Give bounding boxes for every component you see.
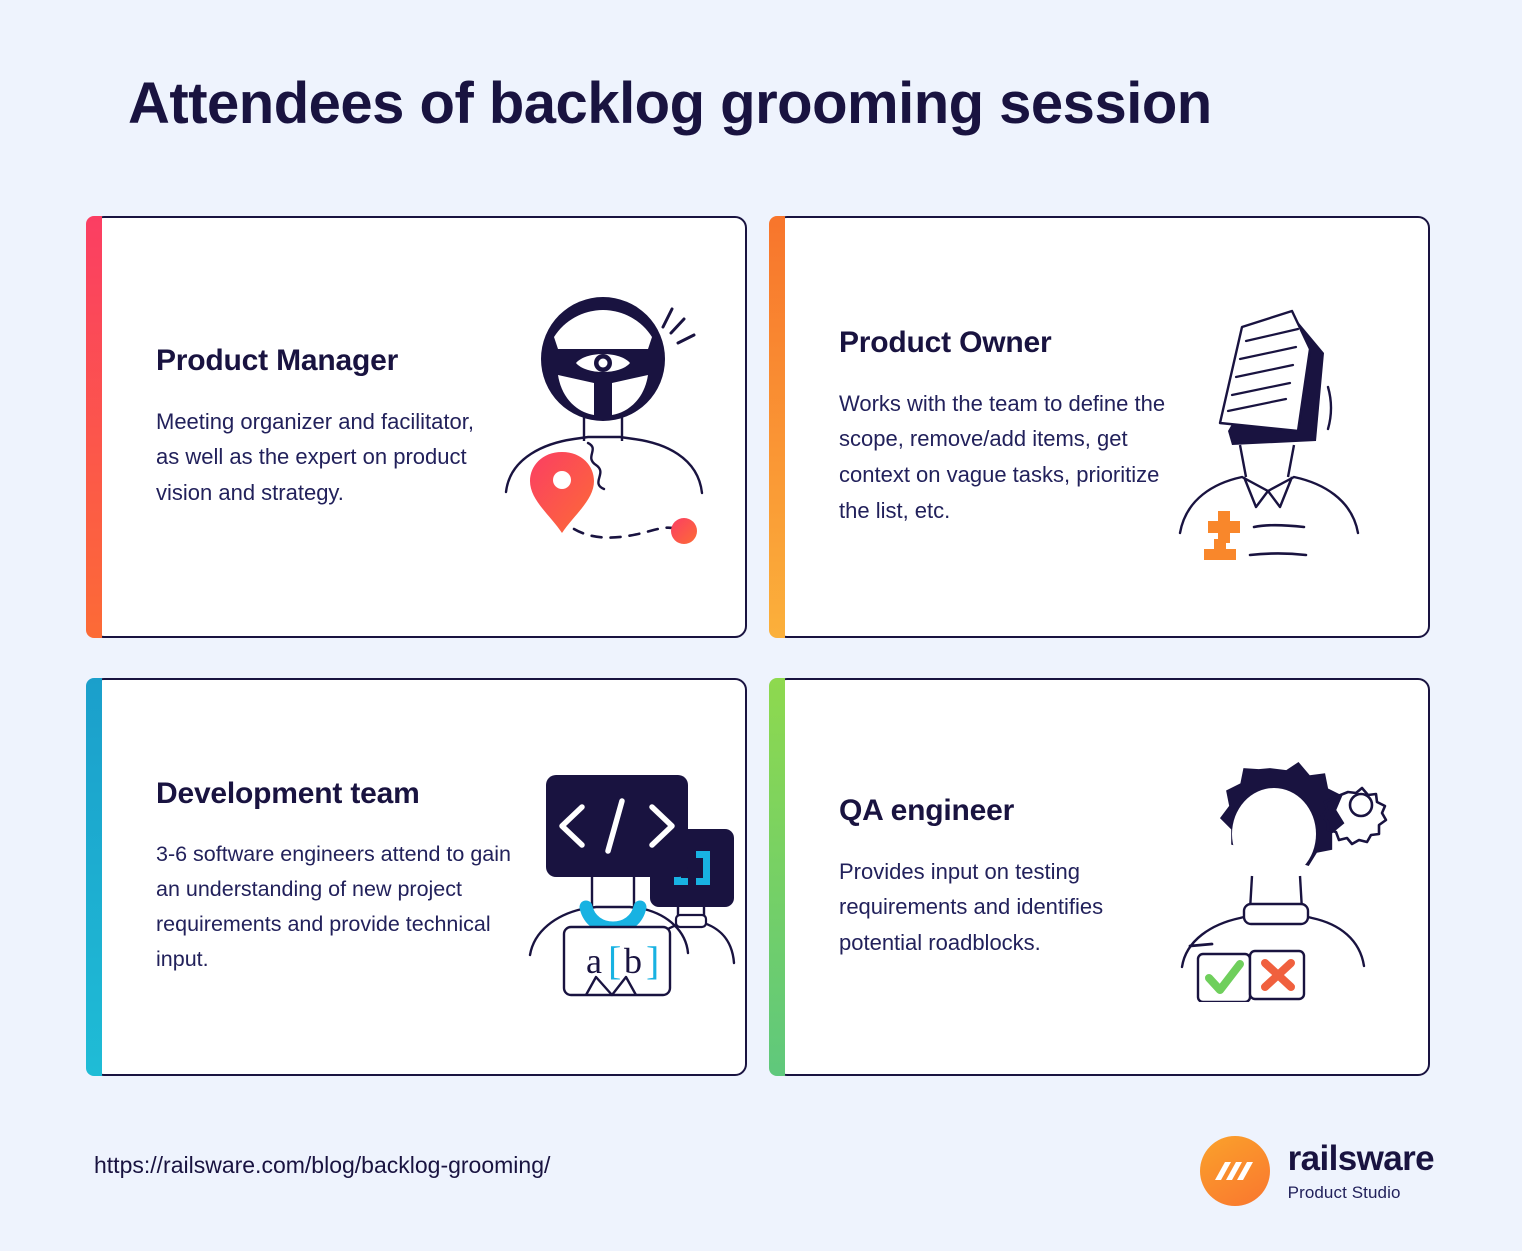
accent-bar-product-manager — [86, 216, 102, 638]
card-title: Development team — [156, 777, 526, 811]
card-description: Meeting organizer and facilitator, as we… — [156, 404, 486, 511]
document-head-person-with-plus-list-icon — [1169, 218, 1402, 636]
svg-text:[: [ — [608, 938, 621, 983]
accent-bar-product-owner — [769, 216, 785, 638]
svg-text:b: b — [624, 941, 642, 981]
card-product-manager[interactable]: Product Manager Meeting organizer and fa… — [92, 216, 747, 638]
card-description: Provides input on testing requirements a… — [839, 854, 1169, 961]
railsware-mark-icon — [1200, 1136, 1270, 1206]
card-qa-engineer[interactable]: QA engineer Provides input on testing re… — [775, 678, 1430, 1076]
card-title: QA engineer — [839, 794, 1169, 828]
logo-wordmark: railsware — [1288, 1141, 1434, 1176]
steering-wheel-person-with-map-pin-icon — [486, 218, 719, 636]
logo-tagline: Product Studio — [1288, 1184, 1434, 1201]
accent-bar-qa-engineer — [769, 678, 785, 1076]
railsware-logo[interactable]: railsware Product Studio — [1200, 1136, 1434, 1206]
card-product-owner[interactable]: Product Owner Works with the team to def… — [775, 216, 1430, 638]
accent-bar-development-team — [86, 678, 102, 1076]
svg-text:]: ] — [646, 938, 659, 983]
page-title: Attendees of backlog grooming session — [128, 72, 1428, 136]
card-title: Product Owner — [839, 326, 1169, 360]
attendee-card-grid: Product Manager Meeting organizer and fa… — [92, 216, 1430, 1076]
card-development-team[interactable]: Development team 3-6 software engineers … — [92, 678, 747, 1076]
card-title: Product Manager — [156, 344, 486, 378]
two-code-head-developers-icon: a [ b ] — [526, 680, 736, 1074]
gear-head-person-with-check-and-cross-icon — [1169, 680, 1402, 1074]
infographic-page: Attendees of backlog grooming session Pr… — [0, 0, 1522, 1251]
card-description: 3-6 software engineers attend to gain an… — [156, 837, 526, 976]
card-description: Works with the team to define the scope,… — [839, 386, 1169, 529]
svg-text:a: a — [586, 941, 602, 981]
source-url[interactable]: https://railsware.com/blog/backlog-groom… — [94, 1152, 550, 1179]
